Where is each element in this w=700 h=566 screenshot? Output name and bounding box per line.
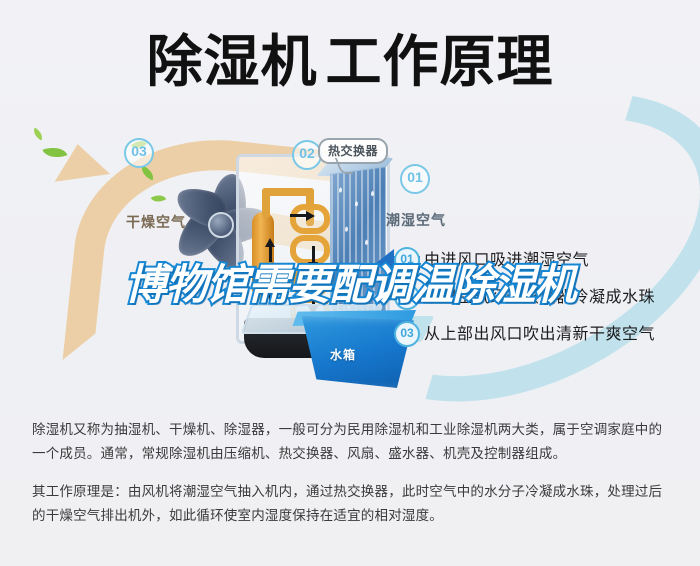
flow-arrow-shaft [269, 246, 272, 262]
infographic-page: 除湿机工作原理 [0, 0, 700, 566]
step-badge: 03 [394, 321, 420, 347]
fan-hub [208, 212, 234, 238]
water-tank-label: 水箱 [330, 346, 356, 363]
diagram-badge-03: 03 [124, 138, 154, 168]
water-droplet [345, 226, 348, 231]
flow-arrow-shaft [290, 214, 306, 217]
leaf-icon [31, 128, 45, 141]
humid-air-label: 潮湿空气 [386, 210, 446, 230]
overlay-headline: 博物馆需要配调温除湿机 [0, 262, 700, 308]
heat-exchanger-callout: 热交换器 [318, 138, 388, 164]
dry-air-label: 干燥空气 [126, 212, 186, 232]
diagram-badge-01: 01 [400, 164, 430, 194]
page-title-part1: 除湿机 [147, 30, 318, 93]
water-droplet [355, 201, 358, 206]
page-title: 除湿机工作原理 [0, 28, 700, 96]
body-copy: 除湿机又称为抽湿机、干燥机、除湿器，一般可分为民用除湿机和工业除湿机两大类，属于… [32, 418, 672, 542]
flow-arrow-up-icon [265, 238, 275, 247]
body-paragraph-2: 其工作原理是：由风机将潮湿空气抽入机内，通过热交换器，此时空气中的水分子冷凝成水… [32, 480, 672, 528]
water-droplet [371, 191, 374, 196]
body-paragraph-1: 除湿机又称为抽湿机、干燥机、除湿器，一般可分为民用除湿机和工业除湿机两大类，属于… [32, 418, 672, 466]
page-title-part2: 工作原理 [326, 30, 554, 93]
flow-arrow-shaft [312, 246, 315, 262]
list-item: 03 从上部出风口吹出清新干爽空气 [394, 319, 694, 356]
water-droplet [339, 187, 342, 192]
water-droplet [365, 240, 368, 245]
step-text: 从上部出风口吹出清新干爽空气 [424, 320, 655, 344]
dry-air-arrowhead-icon [50, 140, 110, 181]
flow-arrow-right-icon [306, 211, 315, 221]
